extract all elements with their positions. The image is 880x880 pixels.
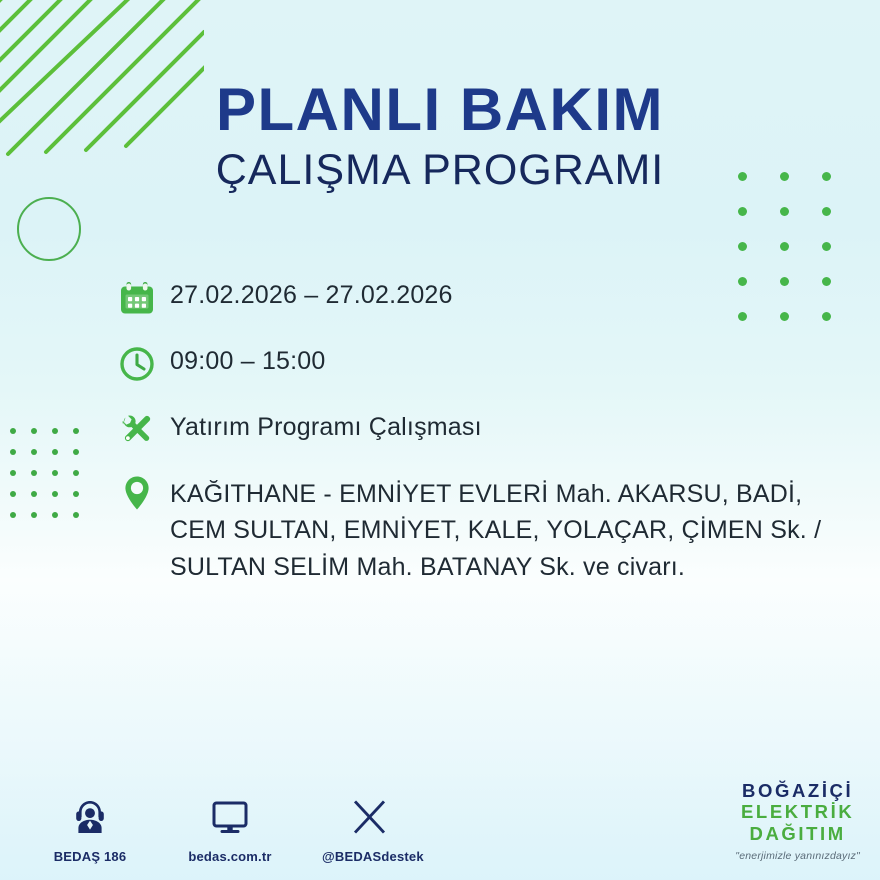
x-twitter-icon — [322, 792, 418, 842]
monitor-icon — [182, 792, 278, 842]
bedas-logo: BOĞAZİÇİ ELEKTRİK DAĞITIM "enerjimizle y… — [735, 780, 860, 862]
date-range-text: 27.02.2026 – 27.02.2026 — [170, 276, 453, 313]
contact-x-twitter[interactable]: @BEDASdestek — [322, 792, 418, 864]
circle-outline-decoration — [17, 197, 81, 261]
address-line-1: KAĞITHANE - EMNİYET EVLERİ Mah. AKARSU, … — [170, 476, 821, 512]
maintenance-details: 27.02.2026 – 27.02.2026 09:00 – 15:00 — [118, 276, 858, 585]
contact-label-x-twitter: @BEDASdestek — [322, 849, 418, 864]
contact-website[interactable]: bedas.com.tr — [182, 792, 278, 864]
brand-line-dagitim: DAĞITIM — [735, 823, 860, 845]
clock-icon — [118, 342, 170, 386]
page-title: PLANLI BAKIM — [0, 78, 880, 141]
poster-footer: BEDAŞ 186 bedas.com.tr — [0, 740, 880, 880]
planned-maintenance-poster: PLANLI BAKIM ÇALIŞMA PROGRAMI — [0, 0, 880, 880]
detail-row-work-type: Yatırım Programı Çalışması — [118, 408, 858, 452]
location-pin-icon — [118, 474, 170, 512]
contact-call-center[interactable]: BEDAŞ 186 — [42, 792, 138, 864]
contact-label-call-center: BEDAŞ 186 — [42, 849, 138, 864]
brand-line-elektrik: ELEKTRİK — [735, 801, 860, 823]
detail-row-time: 09:00 – 15:00 — [118, 342, 858, 386]
contact-label-website: bedas.com.tr — [182, 849, 278, 864]
work-type-text: Yatırım Programı Çalışması — [170, 408, 482, 445]
contact-channels: BEDAŞ 186 bedas.com.tr — [42, 792, 418, 864]
time-range-text: 09:00 – 15:00 — [170, 342, 326, 379]
address-line-3: SULTAN SELİM Mah. BATANAY Sk. ve civarı. — [170, 549, 821, 585]
brand-line-bogazici: BOĞAZİÇİ — [735, 780, 860, 802]
detail-row-date: 27.02.2026 – 27.02.2026 — [118, 276, 858, 320]
address-line-2: CEM SULTAN, EMNİYET, KALE, YOLAÇAR, ÇİME… — [170, 512, 821, 548]
poster-header: PLANLI BAKIM ÇALIŞMA PROGRAMI — [0, 78, 880, 194]
tools-icon — [118, 408, 170, 452]
detail-row-address: KAĞITHANE - EMNİYET EVLERİ Mah. AKARSU, … — [118, 474, 858, 585]
calendar-icon — [118, 276, 170, 320]
brand-tagline: "enerjimizle yanınızdayız" — [735, 850, 860, 862]
headset-support-icon — [42, 792, 138, 842]
page-subtitle: ÇALIŞMA PROGRAMI — [0, 147, 880, 194]
address-text: KAĞITHANE - EMNİYET EVLERİ Mah. AKARSU, … — [170, 474, 821, 585]
dot-grid-decoration-left — [10, 428, 94, 533]
